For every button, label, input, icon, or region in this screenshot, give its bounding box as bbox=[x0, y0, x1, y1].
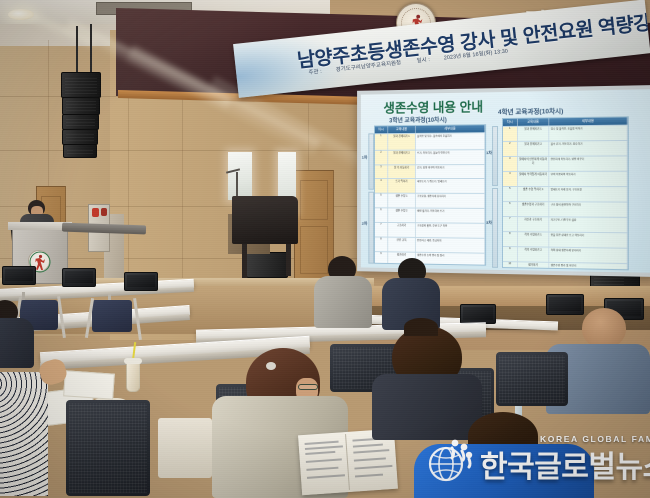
table-row: 4뜨기 익히기새우뜨기, 누워뜨기, 잎새뜨기 bbox=[375, 178, 485, 193]
chair bbox=[92, 300, 132, 332]
wall-top-strip bbox=[0, 24, 120, 46]
table-row: 5생존 수영 1구조요청, 생존자세 유지하기 bbox=[375, 193, 485, 208]
ceiling-light bbox=[8, 9, 34, 20]
line-array-speaker-icon bbox=[61, 72, 101, 98]
cup-lid bbox=[124, 358, 142, 364]
attendee-torso-polkadot bbox=[0, 372, 48, 496]
extinguisher-icon bbox=[92, 208, 99, 217]
piano-icon bbox=[232, 196, 298, 244]
stage-marker-4: 3차 bbox=[486, 220, 492, 226]
stage-rail-1 bbox=[368, 133, 374, 189]
table-row: 1물과 친해지기 1물적응 및 입수, 물속에서 호흡하기 bbox=[375, 132, 485, 150]
monitor bbox=[124, 272, 158, 291]
right-curriculum-table: 차시 교육내용 세부내용 1물과 친해지기 1입수 및 물적응, 호흡법 익히기… bbox=[502, 116, 629, 270]
col-header-detail: 세부내용 bbox=[416, 125, 485, 133]
stage-rail-2 bbox=[368, 192, 374, 264]
table-row: 9평가하기생존수영 능력 평가 및 정리 bbox=[375, 251, 485, 266]
table-header-row: 차시 교육내용 세부내용 bbox=[375, 125, 485, 133]
floor-speaker-icon bbox=[246, 252, 288, 278]
monitor bbox=[546, 294, 584, 315]
line-array-speaker-icon bbox=[62, 97, 100, 115]
attendee-head bbox=[582, 308, 626, 348]
table-row: 8안전 교육안전사고 예방, 응급처치 bbox=[375, 236, 485, 252]
left-table-caption: 3학년 교육과정(10차시) bbox=[389, 115, 447, 125]
table-row: 5생존 수영 익히기 1잎새뜨기 자세 유지, 구조요청 bbox=[503, 186, 628, 202]
right-table-caption: 4학년 교육과정(10차시) bbox=[498, 105, 563, 116]
hair-clip-icon bbox=[266, 362, 276, 370]
microphone-stand bbox=[236, 172, 238, 198]
attendee-torso bbox=[314, 276, 372, 328]
window-left bbox=[228, 152, 252, 200]
table-row: 3물 속 이동하기걷기, 방향 바꾸어 이동하기 bbox=[375, 164, 485, 178]
eyeglasses-icon bbox=[298, 384, 318, 390]
table-row: 3물에서의 안전하게 이동하기안전하게 이동하기, 방향 바꾸기 bbox=[503, 155, 628, 171]
tote-bag bbox=[158, 418, 212, 478]
table-row: 6생존 수영 2배영 발차기, 이동하며 뜨기 bbox=[375, 207, 485, 223]
table-header-row: 차시 교육내용 세부내용 bbox=[503, 117, 628, 126]
table-row: 1물과 친해지기 1입수 및 물적응, 호흡법 익히기 bbox=[503, 125, 628, 141]
stage-rail-4 bbox=[492, 188, 498, 268]
table-row: 2물과 친해지기 2뜨기, 이동하기, 물놀이 안전수칙 bbox=[375, 149, 485, 164]
table-row: 7자신과 구조하기자기구조, 타인구조 실습 bbox=[503, 216, 628, 232]
stage-marker-1: 1차 bbox=[362, 155, 368, 161]
table-row: 8착의 수영하기 1옷을 입은 상태로 뜨고 이동하기 bbox=[503, 231, 628, 248]
monitor bbox=[460, 304, 496, 324]
attendee-torso bbox=[372, 374, 482, 440]
line-array-speaker-icon bbox=[62, 129, 98, 145]
col-header-no: 차시 bbox=[503, 119, 518, 126]
stage-marker-3: 1차 bbox=[486, 150, 492, 156]
stage-marker-2: 2차 bbox=[362, 221, 368, 227]
attendee-torso bbox=[0, 318, 34, 368]
col-header-topic: 교육내용 bbox=[388, 126, 416, 133]
piano-leg bbox=[242, 244, 247, 278]
banner-date-label: 일시 : bbox=[416, 57, 430, 64]
line-array-speaker-icon bbox=[63, 144, 97, 158]
door-panel bbox=[300, 226, 328, 274]
col-header-no: 차시 bbox=[375, 126, 388, 133]
attendee-hair bbox=[404, 318, 438, 336]
watermark-english-text: KOREA GLOBAL FAMILY NEWS bbox=[540, 434, 650, 444]
left-curriculum-table: 차시 교육내용 세부내용 1물과 친해지기 1물적응 및 입수, 물속에서 호흡… bbox=[374, 124, 486, 266]
monitor bbox=[2, 266, 36, 285]
door-panel bbox=[300, 180, 328, 220]
line-array-speaker-icon bbox=[62, 114, 99, 130]
photo-scene: 경기도구리 남양주초등생존수영 강사 및 안전요원 역량강화 연수 주관 :경기… bbox=[0, 0, 650, 498]
drink-cup bbox=[126, 362, 140, 392]
alarm-bell-icon bbox=[101, 208, 107, 216]
stage-rail-3 bbox=[492, 126, 498, 186]
table-row: 2물과 친해지기 2물속 걷기, 이동하기, 잠수하기 bbox=[503, 140, 628, 156]
table-row: 6생존수영과 구조하기구조 장비 활용하여 구조하기 bbox=[503, 201, 628, 217]
handout-paper bbox=[63, 370, 115, 399]
piano-leg bbox=[286, 244, 291, 276]
col-header-topic: 교육내용 bbox=[518, 118, 550, 125]
slide-content: 생존수영 내용 안내 3학년 교육과정(10차시) 4학년 교육과정(10차시)… bbox=[361, 89, 650, 273]
table-row: 7구조하기구조장비 활용, 주변 도구 이용 bbox=[375, 222, 485, 238]
chair bbox=[66, 400, 150, 496]
attendee-torso-blue-shirt bbox=[414, 444, 594, 498]
slide-title: 생존수영 내용 안내 bbox=[383, 96, 483, 116]
chair bbox=[496, 352, 568, 406]
table-row: 4물에서 부력있게 이동하기부력 이용하여 이동하기 bbox=[503, 171, 628, 186]
projection-screen: 생존수영 내용 안내 3학년 교육과정(10차시) 4학년 교육과정(10차시)… bbox=[357, 85, 650, 277]
col-header-detail: 세부내용 bbox=[550, 117, 628, 125]
monitor bbox=[62, 268, 96, 287]
panel-seam bbox=[0, 150, 370, 151]
table-row: 9착의 수영하기 2착의 상태 생존자세 유지하기 bbox=[503, 246, 628, 263]
